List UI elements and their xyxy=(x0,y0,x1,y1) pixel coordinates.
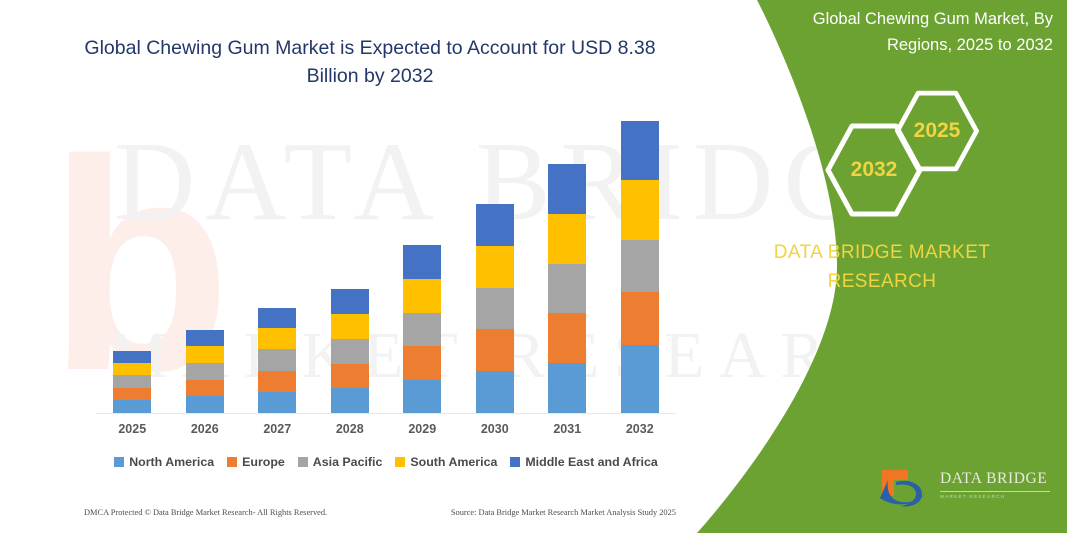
legend-item[interactable]: North America xyxy=(114,455,214,469)
legend-swatch xyxy=(395,457,405,467)
legend-item[interactable]: Middle East and Africa xyxy=(510,455,657,469)
bar-segment xyxy=(113,375,151,388)
bar-segment xyxy=(258,349,296,370)
dbmr-logo-subtitle: MARKET RESEARCH xyxy=(940,494,1052,499)
x-axis-tick: 2032 xyxy=(604,422,677,436)
bar-segment xyxy=(548,264,586,314)
bar-segment xyxy=(476,288,514,330)
bar-segment xyxy=(621,240,659,292)
bar-column xyxy=(241,121,314,413)
bar-segment xyxy=(113,400,151,413)
chart-title: Global Chewing Gum Market is Expected to… xyxy=(60,34,680,90)
bar-column xyxy=(386,121,459,413)
bar-segment xyxy=(403,245,441,279)
legend-label: Asia Pacific xyxy=(313,455,383,469)
bar-segment xyxy=(113,351,151,363)
bar-group xyxy=(96,121,676,413)
green-panel-title: Global Chewing Gum Market, By Regions, 2… xyxy=(753,6,1053,58)
bar-segment xyxy=(403,380,441,413)
x-axis-tick: 2027 xyxy=(241,422,314,436)
footer-source: Source: Data Bridge Market Research Mark… xyxy=(451,508,676,517)
bar-segment xyxy=(186,396,224,413)
legend-label: Europe xyxy=(242,455,285,469)
stacked-bar xyxy=(476,204,514,413)
bar-segment xyxy=(258,328,296,349)
bar-segment xyxy=(403,346,441,379)
bar-segment xyxy=(476,371,514,413)
bar-segment xyxy=(548,363,586,413)
bar-column xyxy=(169,121,242,413)
bar-segment xyxy=(258,392,296,413)
legend-item[interactable]: Europe xyxy=(227,455,285,469)
bar-column xyxy=(459,121,532,413)
dbmr-logo: DATA BRIDGE MARKET RESEARCH xyxy=(878,466,1053,512)
hexagon-2032-label: 2032 xyxy=(851,158,898,182)
bar-segment xyxy=(621,292,659,345)
bar-segment xyxy=(186,330,224,346)
bar-segment xyxy=(113,363,151,376)
x-axis-tick: 2025 xyxy=(96,422,169,436)
bar-segment xyxy=(331,339,369,364)
bar-column xyxy=(531,121,604,413)
bar-segment xyxy=(331,364,369,389)
bar-segment xyxy=(113,388,151,401)
bar-segment xyxy=(258,371,296,392)
x-axis-labels: 20252026202720282029203020312032 xyxy=(96,422,676,436)
footer-copyright: DMCA Protected © Data Bridge Market Rese… xyxy=(84,508,327,517)
bar-segment xyxy=(258,308,296,328)
hexagon-group: 2032 2025 xyxy=(810,88,1010,218)
bar-segment xyxy=(331,314,369,339)
bar-column xyxy=(314,121,387,413)
bar-segment xyxy=(186,346,224,363)
hexagon-2025-label: 2025 xyxy=(914,119,961,143)
x-axis-tick: 2028 xyxy=(314,422,387,436)
bar-column xyxy=(96,121,169,413)
legend-label: Middle East and Africa xyxy=(525,455,657,469)
footer: DMCA Protected © Data Bridge Market Rese… xyxy=(84,508,676,517)
chart-plot-area xyxy=(96,120,676,414)
bar-segment xyxy=(331,388,369,413)
bar-segment xyxy=(186,380,224,397)
legend-item[interactable]: Asia Pacific xyxy=(298,455,383,469)
bar-segment xyxy=(476,329,514,371)
bar-segment xyxy=(476,246,514,288)
legend-swatch xyxy=(227,457,237,467)
x-axis-tick: 2026 xyxy=(169,422,242,436)
stacked-bar xyxy=(186,330,224,413)
infographic-canvas: b DATA BRIDGE MARKET RESEARCH Global Che… xyxy=(0,0,1067,533)
x-axis-tick: 2029 xyxy=(386,422,459,436)
x-axis-tick: 2030 xyxy=(459,422,532,436)
bar-segment xyxy=(621,345,659,413)
bar-segment xyxy=(476,204,514,245)
stacked-bar xyxy=(548,164,586,413)
bar-segment xyxy=(621,180,659,241)
bar-segment xyxy=(548,313,586,363)
dbmr-logo-name: DATA BRIDGE xyxy=(940,470,1052,488)
bar-segment xyxy=(548,214,586,264)
bar-segment xyxy=(403,313,441,346)
legend-label: North America xyxy=(129,455,214,469)
bar-segment xyxy=(621,121,659,180)
dbmr-logo-divider xyxy=(940,491,1050,492)
brand-name: DATA BRIDGE MARKET RESEARCH xyxy=(727,238,1037,296)
hexagon-2025: 2025 xyxy=(894,88,980,174)
legend-swatch xyxy=(510,457,520,467)
x-axis-tick: 2031 xyxy=(531,422,604,436)
legend-swatch xyxy=(114,457,124,467)
stacked-bar xyxy=(403,245,441,413)
bar-segment xyxy=(548,164,586,213)
dbmr-logo-text: DATA BRIDGE MARKET RESEARCH xyxy=(940,470,1052,499)
legend-item[interactable]: South America xyxy=(395,455,497,469)
stacked-bar xyxy=(621,121,659,413)
chart-legend: North AmericaEuropeAsia PacificSouth Ame… xyxy=(96,455,676,469)
dbmr-logo-mark-icon xyxy=(878,466,936,512)
legend-swatch xyxy=(298,457,308,467)
bar-column xyxy=(604,121,677,413)
x-axis-line xyxy=(96,413,676,414)
bar-segment xyxy=(186,363,224,380)
stacked-bar xyxy=(331,289,369,413)
bar-segment xyxy=(403,279,441,312)
stacked-bar xyxy=(258,308,296,413)
legend-label: South America xyxy=(410,455,497,469)
stacked-bar xyxy=(113,351,151,413)
bar-segment xyxy=(331,289,369,314)
